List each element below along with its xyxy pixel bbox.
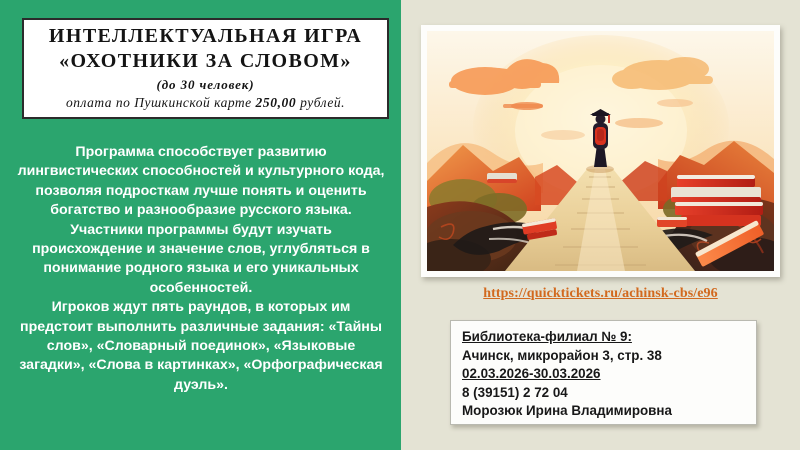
payment-note: оплата по Пушкинской карте 250,00 рублей… [66, 94, 345, 112]
title-card: ИНТЕЛЛЕКТУАЛЬНАЯ ИГРА «ОХОТНИКИ ЗА СЛОВО… [22, 18, 389, 119]
contact-card: Библиотека-филиал № 9: Ачинск, микрорайо… [450, 320, 757, 425]
title-line-2: «ОХОТНИКИ ЗА СЛОВОМ» [59, 49, 352, 74]
illustration-svg [427, 31, 774, 271]
illustration-frame [421, 25, 780, 277]
capacity-note: (до 30 человек) [156, 76, 254, 94]
description-paragraph-2: Игроков ждут пять раундов, в которых им … [16, 298, 386, 395]
payment-prefix: оплата по Пушкинской карте [66, 95, 256, 110]
program-description: Программа способствует развитию лингвист… [16, 143, 386, 395]
sunset-books-illustration [427, 31, 774, 271]
poster-slide: ИНТЕЛЛЕКТУАЛЬНАЯ ИГРА «ОХОТНИКИ ЗА СЛОВО… [0, 0, 800, 450]
contact-phone: 8 (39151) 2 72 04 [462, 384, 756, 403]
contact-address: Ачинск, микрорайон 3, стр. 38 [462, 347, 756, 366]
title-line-1: ИНТЕЛЛЕКТУАЛЬНАЯ ИГРА [49, 24, 362, 49]
contact-dates: 02.03.2026-30.03.2026 [462, 365, 756, 384]
payment-suffix: рублей. [296, 95, 345, 110]
contact-person: Морозюк Ирина Владимировна [462, 402, 756, 421]
contact-library-name: Библиотека-филиал № 9: [462, 328, 756, 347]
payment-amount: 250,00 [256, 95, 297, 110]
ticket-purchase-link[interactable]: https://quicktickets.ru/achinsk-cbs/e96 [421, 286, 780, 302]
description-paragraph-1: Программа способствует развитию лингвист… [16, 143, 386, 298]
